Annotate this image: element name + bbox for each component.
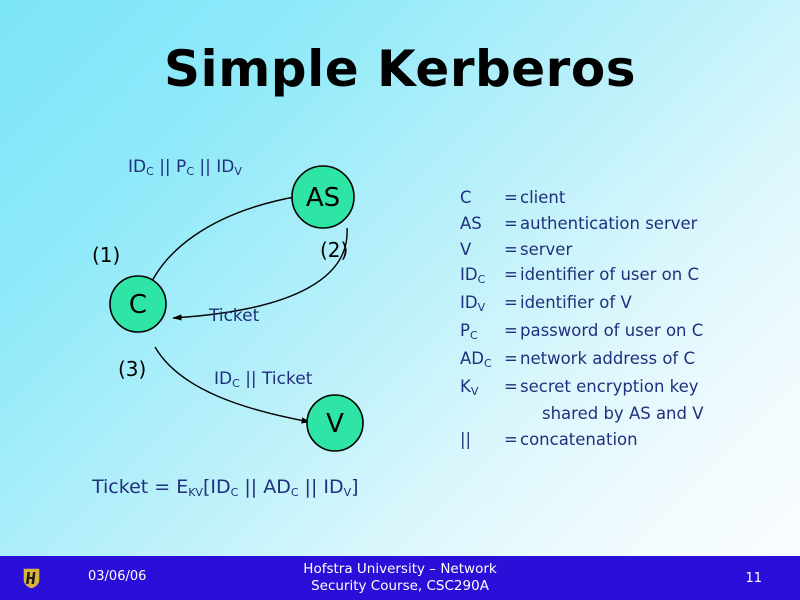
- legend-row: ADC=network address of C: [460, 346, 780, 374]
- kerberos-flow-diagram: AS C V: [60, 140, 440, 520]
- node-v[interactable]: V: [307, 395, 363, 451]
- legend-row: C=client: [460, 185, 780, 211]
- legend-definition: secret encryption key: [520, 374, 780, 400]
- legend-symbol: KV: [460, 374, 504, 402]
- legend-equals: =: [504, 318, 520, 344]
- node-v-label: V: [326, 409, 344, 439]
- footer-line-2: Security Course, CSC290A: [240, 578, 560, 595]
- legend-row: AS=authentication server: [460, 211, 780, 237]
- footer-line-1: Hofstra University – Network: [240, 561, 560, 578]
- legend-row: ||=concatenation: [460, 427, 780, 453]
- notation-legend: C=clientAS=authentication serverV=server…: [460, 185, 780, 453]
- legend-equals: =: [504, 262, 520, 288]
- diagram-svg: AS C V: [60, 140, 440, 520]
- legend-definition: password of user on C: [520, 318, 780, 344]
- legend-equals: =: [504, 374, 520, 400]
- footer-date: 03/06/06: [88, 569, 146, 584]
- message-2-label: Ticket: [209, 306, 259, 326]
- legend-definition: identifier of user on C: [520, 262, 780, 288]
- legend-definition: server: [520, 237, 780, 263]
- legend-definition: identifier of V: [520, 290, 780, 316]
- message-3-label: IDC || Ticket: [214, 369, 312, 389]
- ticket-formula: Ticket = EKV[IDC || ADC || IDV]: [92, 476, 359, 498]
- legend-row: IDV=identifier of V: [460, 290, 780, 318]
- legend-definition: client: [520, 185, 780, 211]
- legend-equals: =: [504, 427, 520, 453]
- hofstra-shield-icon: [22, 567, 41, 590]
- legend-equals: =: [504, 237, 520, 263]
- node-c-label: C: [129, 290, 147, 320]
- page-title: Simple Kerberos: [0, 42, 800, 97]
- step-number-1: (1): [92, 243, 120, 267]
- message-1-label: IDC || PC || IDV: [128, 157, 242, 177]
- legend-symbol: ADC: [460, 346, 504, 374]
- legend-row: IDC=identifier of user on C: [460, 262, 780, 290]
- legend-symbol: IDC: [460, 262, 504, 290]
- legend-symbol: C: [460, 185, 504, 211]
- legend-definition: network address of C: [520, 346, 780, 372]
- legend-symbol: PC: [460, 318, 504, 346]
- legend-equals: =: [504, 185, 520, 211]
- slide-canvas: Simple Kerberos AS C: [0, 0, 800, 600]
- legend-symbol: V: [460, 237, 504, 263]
- legend-symbol: AS: [460, 211, 504, 237]
- legend-row: V=server: [460, 237, 780, 263]
- legend-row: KV=secret encryption key: [460, 374, 780, 402]
- step-number-3: (3): [118, 357, 146, 381]
- legend-row: PC=password of user on C: [460, 318, 780, 346]
- node-as-label: AS: [306, 183, 340, 213]
- legend-symbol: ||: [460, 427, 504, 453]
- legend-equals: =: [504, 290, 520, 316]
- legend-equals: =: [504, 211, 520, 237]
- slide-footer: 03/06/06 Hofstra University – Network Se…: [0, 556, 800, 600]
- legend-definition: concatenation: [520, 427, 780, 453]
- legend-equals: =: [504, 346, 520, 372]
- legend-definition: authentication server: [520, 211, 780, 237]
- node-c[interactable]: C: [110, 276, 166, 332]
- node-as[interactable]: AS: [292, 166, 354, 228]
- legend-continuation: shared by AS and V: [460, 401, 780, 427]
- footer-course-info: Hofstra University – Network Security Co…: [240, 561, 560, 595]
- footer-page-number: 11: [745, 571, 762, 586]
- step-number-2: (2): [320, 238, 348, 262]
- legend-symbol: IDV: [460, 290, 504, 318]
